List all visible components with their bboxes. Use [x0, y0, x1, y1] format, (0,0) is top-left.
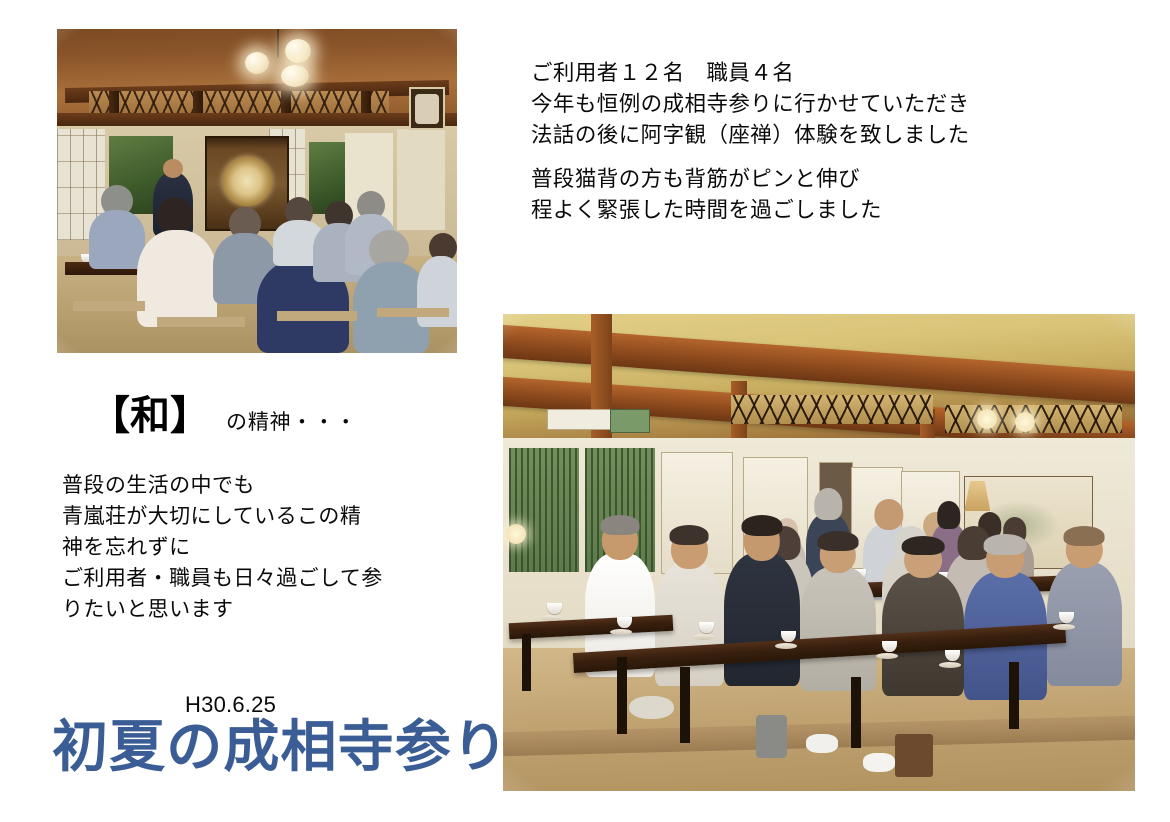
intro-paragraph: ご利用者１２名 職員４名 今年も恒例の成相寺参りに行かせていただき 法話の後に阿… — [531, 58, 970, 226]
table-leg — [680, 667, 690, 743]
spirit-paragraph: 普段の生活の中でも 青嵐荘が大切にしているこの精 神を忘れずに ご利用者・職員も… — [62, 470, 383, 625]
attendee-body — [137, 230, 217, 327]
painted-panel — [397, 129, 445, 229]
spirit-line-4: ご利用者・職員も日々過ごして参 — [62, 567, 383, 590]
group-scene — [503, 314, 1135, 791]
spirit-line-2: 青嵐荘が大切にしているこの精 — [62, 505, 361, 528]
speaker-head — [163, 159, 183, 178]
wall-light — [506, 524, 526, 544]
mandala-painting — [222, 157, 272, 207]
saucer — [1053, 624, 1075, 630]
attendee-body — [89, 210, 145, 268]
lamp-stem — [277, 29, 279, 58]
spirit-line-5: りたいと思います — [62, 598, 233, 621]
group-seated-at-tables-photo — [503, 314, 1135, 791]
spirit-line-1: 普段の生活の中でも — [62, 474, 255, 497]
bag — [756, 715, 788, 758]
intro-line-2: 今年も恒例の成相寺参りに行かせていただき — [531, 92, 970, 116]
table-leg — [1009, 662, 1019, 729]
table-leg — [851, 677, 861, 749]
ceiling-lamp — [285, 39, 311, 63]
saucer — [876, 653, 898, 659]
attendee — [724, 553, 800, 687]
transom-lattice — [731, 395, 933, 424]
intro-line-3: 法話の後に阿字観（座禅）体験を致しました — [531, 123, 970, 147]
chair — [377, 308, 449, 318]
saucer — [610, 629, 632, 635]
temple-hall-dharma-talk-photo — [57, 29, 457, 353]
spirit-line-3: 神を忘れずに — [62, 536, 191, 559]
saucer — [541, 615, 563, 621]
intro-line-5: 程よく緊張した時間を過ごしました — [531, 198, 882, 222]
lower-beam — [57, 113, 457, 126]
chair — [277, 311, 357, 321]
shoe — [806, 734, 838, 753]
chair — [157, 317, 245, 327]
page-title: 初夏の成相寺参り — [52, 718, 509, 777]
ceiling-lamp — [281, 65, 309, 88]
table-leg — [522, 634, 531, 691]
ceiling-light — [1015, 412, 1035, 432]
wall-plaque — [547, 409, 612, 430]
hall-scene — [57, 29, 457, 353]
wa-heading: 【和】 の精神・・・ — [90, 396, 357, 436]
intro-line-4: 普段猫背の方も背筋がピンと伸び — [531, 167, 860, 191]
shoe — [863, 753, 895, 772]
wall-plaque — [610, 409, 650, 432]
paragraph-spacer — [531, 151, 970, 164]
wa-kanji-label: 【和】 — [90, 396, 210, 436]
hat — [629, 696, 673, 720]
reed-blind — [509, 448, 579, 572]
saucer — [693, 634, 715, 640]
attendee — [800, 567, 876, 691]
bag — [895, 734, 933, 777]
framed-portrait — [409, 87, 445, 130]
table-leg — [617, 657, 627, 733]
chair — [73, 301, 145, 311]
intro-line-1: ご利用者１２名 職員４名 — [531, 61, 794, 85]
wa-subtitle-label: の精神・・・ — [226, 406, 357, 436]
ceiling-lamp — [245, 52, 269, 75]
